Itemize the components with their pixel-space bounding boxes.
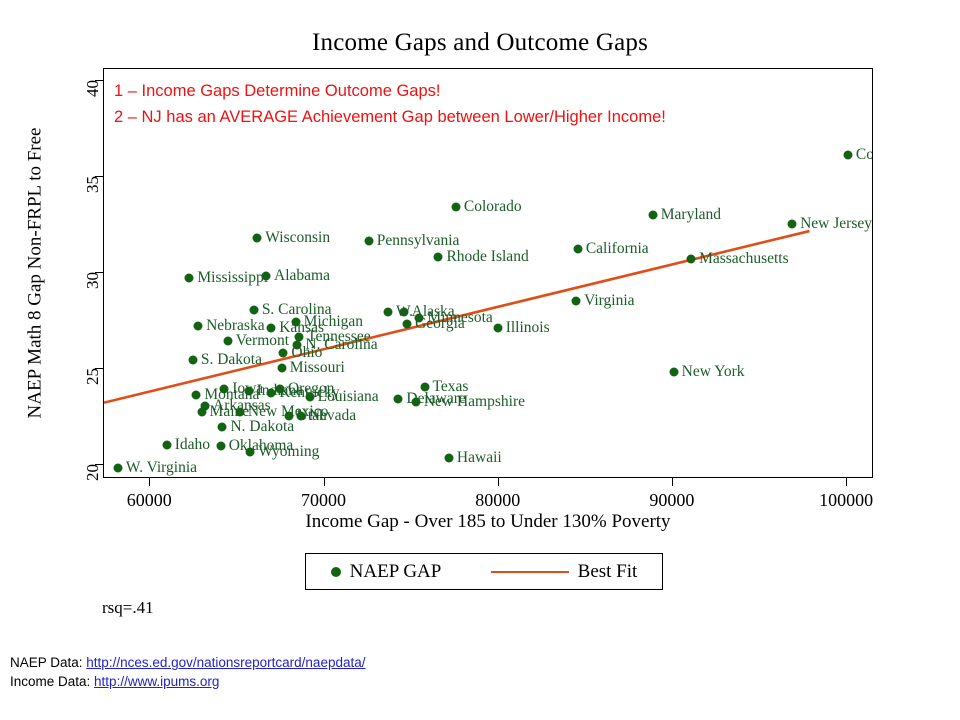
data-point-label: Massachusetts <box>699 250 789 268</box>
slide-canvas: Income Gaps and Outcome Gaps NAEP Math 8… <box>0 0 960 720</box>
data-point-label: Mississippi <box>197 269 268 287</box>
data-point[interactable] <box>194 321 203 330</box>
data-point[interactable] <box>843 151 852 160</box>
data-point-label: Idaho <box>175 436 210 454</box>
data-point[interactable] <box>573 245 582 254</box>
data-point[interactable] <box>113 463 122 472</box>
data-point[interactable] <box>669 367 678 376</box>
x-axis-title: Income Gap - Over 185 to Under 130% Pove… <box>103 511 873 533</box>
x-tick-80000 <box>498 477 499 486</box>
data-point-label: W. <box>396 303 413 321</box>
rsq-value: rsq=.41 <box>102 598 154 618</box>
data-point[interactable] <box>572 296 581 305</box>
data-point[interactable] <box>364 237 373 246</box>
chart-legend: NAEP GAP Best Fit <box>305 553 663 590</box>
data-point[interactable] <box>383 308 392 317</box>
data-point[interactable] <box>444 453 453 462</box>
plot-area: ConnecticutNew JerseyMarylandMassachuset… <box>104 69 872 477</box>
legend-line-icon <box>491 571 569 573</box>
data-point[interactable] <box>246 448 255 457</box>
data-point-label: W. Virginia <box>126 459 197 477</box>
data-point-label: New Hampshire <box>424 393 525 411</box>
data-point-label: Virginia <box>584 292 634 310</box>
y-axis-title-text: NAEP Math 8 Gap Non-FRPL to Free <box>24 128 46 419</box>
data-point-label: New York <box>682 363 745 381</box>
data-point-label: Nevada <box>309 407 356 425</box>
x-tick-label-60000: 60000 <box>127 490 172 511</box>
data-point[interactable] <box>296 411 305 420</box>
data-point-label: S. Dakota <box>201 351 262 369</box>
footer-line-naep: NAEP Data: http://nces.ed.gov/nationsrep… <box>10 653 950 672</box>
footer-naep-link[interactable]: http://nces.ed.gov/nationsreportcard/nae… <box>86 655 365 670</box>
data-point[interactable] <box>218 423 227 432</box>
plot-frame: ConnecticutNew JerseyMarylandMassachuset… <box>103 68 873 478</box>
data-point-label: Pennsylvania <box>377 232 460 250</box>
footer-income-prefix: Income Data: <box>10 674 94 689</box>
legend-label-best-fit: Best Fit <box>578 561 638 583</box>
legend-entry-best-fit: Best Fit <box>491 561 638 583</box>
x-tick-label-100000: 100000 <box>819 490 873 511</box>
data-point-label: Wyoming <box>258 443 319 461</box>
data-point[interactable] <box>235 407 244 416</box>
data-point[interactable] <box>277 363 286 372</box>
data-point-label: Alabama <box>274 267 330 285</box>
x-tick-70000 <box>324 477 325 486</box>
x-tick-label-80000: 80000 <box>475 490 520 511</box>
data-point-label: Hawaii <box>457 449 502 467</box>
data-point-label: Maryland <box>661 206 721 224</box>
data-point[interactable] <box>788 220 797 229</box>
y-tick-label-25: 25 <box>83 368 103 385</box>
data-point[interactable] <box>216 442 225 451</box>
data-point[interactable] <box>451 202 460 211</box>
data-point[interactable] <box>434 252 443 261</box>
y-axis-title: NAEP Math 8 Gap Non-FRPL to Free <box>24 68 46 478</box>
data-point[interactable] <box>394 394 403 403</box>
data-point-label: New Jersey <box>800 215 872 233</box>
data-point-label: Illinois <box>506 319 550 337</box>
data-point-label: Missouri <box>290 359 345 377</box>
legend-marker-icon <box>331 567 341 577</box>
legend-entry-naep-gap: NAEP GAP <box>331 561 442 583</box>
data-point[interactable] <box>192 390 201 399</box>
y-tick-label-30: 30 <box>83 272 103 289</box>
legend-label-naep-gap: NAEP GAP <box>350 561 442 583</box>
data-point[interactable] <box>249 306 258 315</box>
data-point-label: Connecticut <box>856 146 872 164</box>
data-point[interactable] <box>411 398 420 407</box>
x-tick-label-90000: 90000 <box>649 490 694 511</box>
data-point[interactable] <box>687 254 696 263</box>
y-tick-label-20: 20 <box>83 464 103 481</box>
annotation-line-1: 1 – Income Gaps Determine Outcome Gaps! <box>114 82 440 101</box>
data-point-label: California <box>586 240 649 258</box>
data-point-label: Wisconsin <box>265 229 330 247</box>
data-point[interactable] <box>162 440 171 449</box>
x-tick-label-70000: 70000 <box>301 490 346 511</box>
footer-line-income: Income Data: http://www.ipums.org <box>10 672 950 691</box>
x-tick-100000 <box>846 477 847 486</box>
data-point[interactable] <box>253 233 262 242</box>
data-point[interactable] <box>267 323 276 332</box>
data-point[interactable] <box>493 323 502 332</box>
data-point[interactable] <box>188 356 197 365</box>
footer: NAEP Data: http://nces.ed.gov/nationsrep… <box>10 653 950 691</box>
y-tick-label-40: 40 <box>83 80 103 97</box>
data-point[interactable] <box>185 273 194 282</box>
data-point-label: Georgia <box>415 315 465 333</box>
data-point[interactable] <box>305 392 314 401</box>
x-tick-60000 <box>149 477 150 486</box>
footer-naep-prefix: NAEP Data: <box>10 655 86 670</box>
data-point[interactable] <box>279 348 288 357</box>
annotation-line-2: 2 – NJ has an AVERAGE Achievement Gap be… <box>114 108 666 127</box>
page-title: Income Gaps and Outcome Gaps <box>0 29 960 57</box>
data-point[interactable] <box>223 337 232 346</box>
footer-income-link[interactable]: http://www.ipums.org <box>94 674 219 689</box>
x-tick-90000 <box>672 477 673 486</box>
data-point[interactable] <box>267 388 276 397</box>
data-point-label: Colorado <box>464 198 522 216</box>
y-tick-label-35: 35 <box>83 176 103 193</box>
data-point-label: Rhode Island <box>446 248 528 266</box>
data-point-label: N. Dakota <box>230 418 294 436</box>
data-point[interactable] <box>197 407 206 416</box>
data-point[interactable] <box>648 210 657 219</box>
